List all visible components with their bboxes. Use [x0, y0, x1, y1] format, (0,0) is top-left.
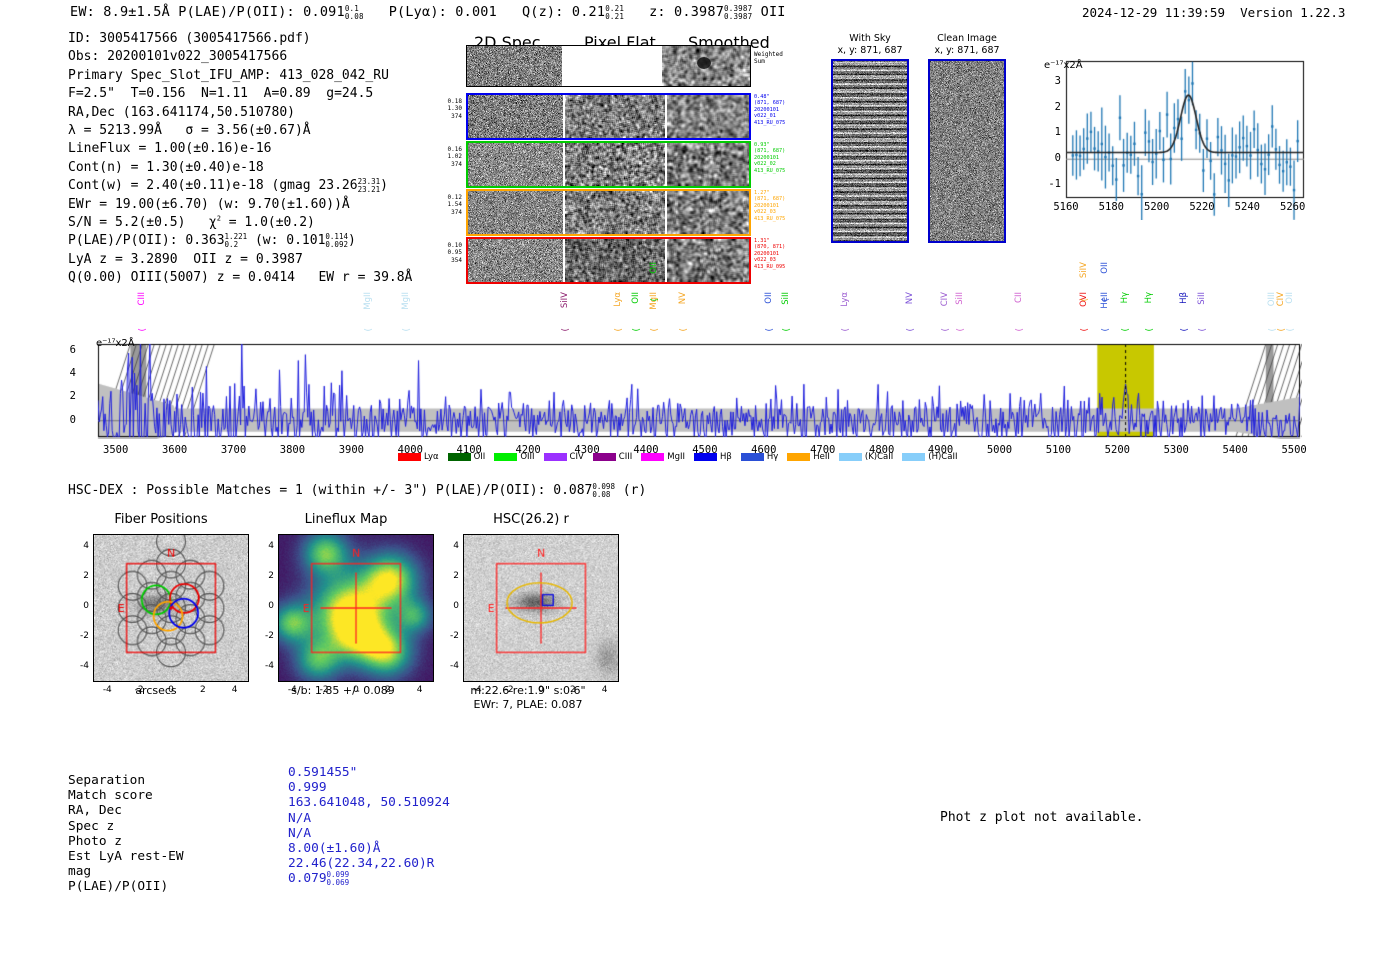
zoom-ytick: 2: [1036, 101, 1061, 113]
hsc-dex-text: HSC-DEX : Possible Matches = 1 (within +…: [68, 483, 592, 498]
clean-image-cutout: Clean Image x, y: 871, 687: [915, 33, 1019, 243]
spec-row-meta: 0.48"(871, 687)20200101v022_01413_RU_075: [754, 94, 785, 126]
gmag-errors: 23.3123.21: [358, 178, 381, 194]
header-z: z: 0.3987: [649, 4, 724, 20]
timestamp: 2024-12-29 11:39:59: [1082, 5, 1225, 20]
main-xtick: 5000: [978, 444, 1022, 456]
emission-line-bracket: (: [364, 328, 374, 332]
zoom-line-plot: e⁻¹⁷x2Å 516051805200522052405260 3210-1: [1036, 57, 1308, 220]
main-xtick: 5400: [1213, 444, 1257, 456]
with-sky-cutout: With Sky x, y: 871, 687: [818, 33, 922, 243]
lineflux-map-title: Lineflux Map: [263, 512, 429, 527]
emission-line-bracket: (: [841, 328, 851, 332]
header-plae-errors: 0.10.08: [345, 5, 364, 21]
legend-item: (H)CaII: [902, 452, 957, 462]
cutout-xtick: -2: [310, 685, 338, 695]
spec-row-left-stats: 0.121.54374: [438, 194, 462, 216]
emission-line-bracket: (: [650, 298, 660, 302]
fiber-positions-panel: Fiber Positions arcsecs: [60, 512, 244, 527]
legend-label: CIV: [570, 452, 584, 462]
emission-line-label: OII: [1286, 292, 1295, 304]
info-lineflux: LineFlux = 1.00(±0.16)e-16: [68, 140, 412, 158]
detection-info-block: ID: 3005417566 (3005417566.pdf) Obs: 202…: [68, 30, 412, 288]
emission-line-bracket: (: [1080, 298, 1090, 302]
info-primary-spec: Primary Spec_Slot_IFU_AMP: 413_028_042_R…: [68, 67, 412, 85]
hsc-r-panel: HSC(26.2) r m:22.6 re:1.9" s:0.6" EWr: 7…: [430, 512, 614, 527]
emission-line-bracket: (: [1101, 328, 1111, 332]
cutout-xtick: 2: [374, 685, 402, 695]
spec-row-left-stats: 0.100.95354: [438, 242, 462, 264]
zoom-xtick: 5160: [1049, 201, 1083, 213]
cutout-xtick: 0: [157, 685, 185, 695]
cutout-xtick: -4: [278, 685, 306, 695]
info-plae-w-errors: 0.1140.092: [325, 233, 348, 249]
match-row-key: mag: [68, 864, 91, 879]
zoom-ytick: 3: [1036, 75, 1061, 87]
main-xtick: 3800: [270, 444, 314, 456]
cutout-xtick: 4: [591, 685, 619, 695]
legend-swatch: [544, 453, 567, 461]
emission-line-label: MgII: [364, 292, 373, 310]
legend-item: CIII: [593, 452, 632, 462]
emission-line-bracket: (: [1080, 328, 1090, 332]
clean-image-title: Clean Image: [915, 33, 1019, 45]
emission-line-bracket: (: [906, 328, 916, 332]
emission-line-label: SiII: [1198, 292, 1207, 305]
info-plae-errors: 1.2210.2: [225, 233, 248, 249]
match-row-key: P(LAE)/P(OII): [68, 879, 168, 894]
cutout-xtick: 2: [189, 685, 217, 695]
legend-item: HeII: [787, 452, 830, 462]
match-row-key: RA, Dec: [68, 803, 122, 818]
info-ewr: EWr = 19.00(±6.70) (w: 9.70(±1.60))Å: [68, 196, 412, 214]
cutout-ytick: -4: [67, 661, 89, 671]
zoom-ytick: 1: [1036, 126, 1061, 138]
spec-row-left-stats: 0.181.30374: [438, 98, 462, 120]
emission-line-label: OII: [765, 292, 774, 304]
emission-line-label: CII: [1015, 292, 1024, 303]
emission-line-bracket: (: [956, 328, 966, 332]
cutout-ytick: -4: [437, 661, 459, 671]
twod-spec-panel-group: 2D Spec Pixel Flat Smoothed Weighted Sum…: [460, 33, 805, 258]
emission-line-bracket: (: [1145, 328, 1155, 332]
emission-line-label: SiIV: [561, 292, 570, 308]
header-z-species: OII: [761, 4, 786, 20]
legend-label: OII: [474, 452, 486, 462]
match-row-value: 0.999: [288, 780, 327, 795]
spec-row-meta: 1.31"(870, 871)20200101v022_03413_RU_095: [754, 238, 785, 270]
cutout-xtick: 0: [342, 685, 370, 695]
emission-line-label: Lyα: [841, 292, 850, 307]
with-sky-title: With Sky: [818, 33, 922, 45]
cutout-ytick: 4: [252, 541, 274, 551]
legend-swatch: [448, 453, 471, 461]
main-xtick: 3600: [153, 444, 197, 456]
legend-label: CIII: [619, 452, 632, 462]
main-xtick: 5100: [1036, 444, 1080, 456]
emission-line-label: OII: [1101, 262, 1110, 274]
emission-line-legend: LyαOIIOIIICIVCIIIMgIIHβHγHeII(K)CaII(H)C…: [398, 452, 957, 462]
main-xtick: 5300: [1154, 444, 1198, 456]
with-sky-coords: x, y: 871, 687: [818, 45, 922, 57]
header-plya: P(Lyα): 0.001: [389, 4, 497, 20]
legend-swatch: [741, 453, 764, 461]
match-row-value: 8.00(±1.60)Å: [288, 841, 380, 856]
emission-line-label: CIII: [138, 292, 147, 305]
zoom-ytick: -1: [1036, 178, 1061, 190]
cutout-ytick: 2: [252, 571, 274, 581]
info-params: F=2.5" T=0.156 N=1.11 A=0.89 g=24.5: [68, 85, 412, 103]
legend-swatch: [593, 453, 616, 461]
info-wavelength: λ = 5213.99Å σ = 3.56(±0.67)Å: [68, 122, 412, 140]
match-row-value: 0.0790.0990.069: [288, 871, 349, 887]
cutout-xtick: -2: [125, 685, 153, 695]
spec-row-meta: 0.93"(871, 687)20200101v022_02413_RU_075: [754, 142, 785, 174]
emission-line-label: SiII: [956, 292, 965, 305]
legend-swatch: [641, 453, 664, 461]
main-xtick: 5500: [1272, 444, 1316, 456]
clean-image-coords: x, y: 871, 687: [915, 45, 1019, 57]
legend-swatch: [902, 453, 925, 461]
emission-line-bracket: (: [561, 328, 571, 332]
main-xtick: 3900: [329, 444, 373, 456]
emission-line-bracket: (: [1286, 328, 1296, 332]
match-row-key: Est LyA rest-EW: [68, 849, 184, 864]
emission-line-label: SiIV: [1080, 262, 1089, 278]
info-cont-n: Cont(n) = 1.30(±0.40)e-18: [68, 159, 412, 177]
legend-item: Lyα: [398, 452, 439, 462]
cutout-ytick: -2: [437, 631, 459, 641]
emission-line-bracket: (: [1101, 298, 1111, 302]
cutout-ytick: 0: [67, 601, 89, 611]
emission-line-bracket: (: [1180, 328, 1190, 332]
main-xtick: 5200: [1095, 444, 1139, 456]
spec-row: [466, 93, 751, 140]
emission-line-label: OII: [650, 262, 659, 274]
legend-item: Hβ: [694, 452, 732, 462]
weighted-sum-strip: [466, 45, 751, 87]
info-redshifts: LyA z = 3.2890 OII z = 0.3987: [68, 251, 412, 269]
legend-item: OIII: [494, 452, 534, 462]
zoom-plot-units: e⁻¹⁷x2Å: [1044, 60, 1083, 71]
emission-line-label: Hβ: [1180, 292, 1189, 304]
emission-line-bracket: (: [614, 328, 624, 332]
emission-line-bracket: (: [765, 328, 775, 332]
zoom-xtick: 5200: [1140, 201, 1174, 213]
emission-line-label: NV: [679, 292, 688, 304]
main-ytick: 2: [58, 390, 76, 402]
legend-swatch: [694, 453, 717, 461]
spec-row-meta: 1.27"(871, 687)20200101v022_03413_RU_075: [754, 190, 785, 222]
legend-item: MgII: [641, 452, 685, 462]
zoom-xtick: 5240: [1230, 201, 1264, 213]
match-row-key: Separation: [68, 773, 145, 788]
emission-line-bracket: (: [679, 328, 689, 332]
legend-label: Hβ: [720, 452, 732, 462]
legend-swatch: [494, 453, 517, 461]
legend-label: OIII: [520, 452, 534, 462]
match-row-value: 163.641048, 50.510924: [288, 795, 450, 810]
cutout-xtick: -4: [463, 685, 491, 695]
legend-swatch: [787, 453, 810, 461]
cutout-ytick: 0: [437, 601, 459, 611]
zoom-ytick: 0: [1036, 152, 1061, 164]
match-row-value: N/A: [288, 811, 311, 826]
cutout-ytick: -2: [67, 631, 89, 641]
emission-line-label: Hγ: [1121, 292, 1130, 303]
cutout-xtick: -2: [495, 685, 523, 695]
emission-line-bracket: (: [138, 328, 148, 332]
info-radec: RA,Dec (163.641174,50.510780): [68, 104, 412, 122]
emission-line-bracket: (: [632, 328, 642, 332]
legend-swatch: [398, 453, 421, 461]
lineflux-map-panel: Lineflux Map s/b: 1.85 +/- 0.089: [245, 512, 429, 527]
match-row-value: N/A: [288, 826, 311, 841]
main-xtick: 3700: [212, 444, 256, 456]
hsc-dex-errors: 0.0980.08: [592, 483, 615, 499]
match-row-value: 22.46(22.34,22.60)R: [288, 856, 434, 871]
info-cont-w: Cont(w) = 2.40(±0.11)e-18 (gmag 23.2623.…: [68, 177, 412, 195]
legend-label: (K)CaII: [865, 452, 893, 462]
cutout-ytick: 2: [67, 571, 89, 581]
emission-line-label: OII: [632, 292, 641, 304]
emission-line-bracket: (: [402, 328, 412, 332]
emission-line-label: Lyα: [614, 292, 623, 307]
main-ytick: 0: [58, 414, 76, 426]
header-qz-errors: 0.210.21: [605, 5, 624, 21]
info-sn-chi2: S/N = 5.2(±0.5) χ2 = 1.0(±0.2): [68, 214, 412, 232]
zoom-xtick: 5260: [1276, 201, 1310, 213]
emission-line-label: MgII: [402, 292, 411, 310]
match-row-key: Match score: [68, 788, 153, 803]
legend-label: HeII: [813, 452, 830, 462]
match-row-value: 0.591455": [288, 765, 357, 780]
info-plae: P(LAE)/P(OII): 0.3631.2210.2 (w: 0.1010.…: [68, 232, 412, 250]
match-row-key: Photo z: [68, 834, 122, 849]
cutout-ytick: -2: [252, 631, 274, 641]
spec-row-left-stats: 0.161.02374: [438, 146, 462, 168]
main-spectrum-region: CIII(MgII(MgII(SiIV(Lyα(OII(MgII(OII(NV(…: [80, 270, 1302, 445]
header-z-errors: 0.39870.3987: [724, 5, 752, 21]
cutout-xtick: 2: [559, 685, 587, 695]
cutout-ytick: -4: [252, 661, 274, 671]
legend-item: CIV: [544, 452, 584, 462]
fiber-positions-title: Fiber Positions: [78, 512, 244, 527]
emission-line-bracket: (: [1198, 328, 1208, 332]
hsc-r-caption-2: EWr: 7, PLAE: 0.087: [428, 698, 628, 711]
spec-row: [466, 189, 751, 236]
emission-line-label: NV: [906, 292, 915, 304]
legend-item: OII: [448, 452, 486, 462]
hsc-dex-filter: (r): [623, 483, 646, 498]
header-right: 2024-12-29 11:39:59 Version 1.22.3: [1082, 5, 1345, 20]
zoom-xtick: 5180: [1094, 201, 1128, 213]
hsc-dex-summary: HSC-DEX : Possible Matches = 1 (within +…: [68, 483, 646, 499]
cutout-xtick: -4: [93, 685, 121, 695]
header-ew-plae: EW: 8.9±1.5Å P(LAE)/P(OII): 0.091: [70, 4, 345, 20]
emission-line-label: CIV: [941, 292, 950, 306]
version-label: Version 1.22.3: [1240, 5, 1345, 20]
emission-line-bracket: (: [1121, 328, 1131, 332]
emission-line-bracket: (: [1015, 328, 1025, 332]
weighted-sum-label: Weighted Sum: [754, 51, 783, 66]
main-ytick: 4: [58, 367, 76, 379]
emission-line-label: Hγ: [1145, 292, 1154, 303]
photz-note: Phot z plot not available.: [940, 810, 1144, 825]
emission-line-label: SiII: [782, 292, 791, 305]
pixelflat-blank: [562, 46, 662, 86]
emission-line-bracket: (: [941, 328, 951, 332]
legend-label: (H)CaII: [928, 452, 957, 462]
emission-line-bracket: (: [782, 328, 792, 332]
main-ytick: 6: [58, 344, 76, 356]
hsc-r-title: HSC(26.2) r: [448, 512, 614, 527]
cutout-ytick: 4: [67, 541, 89, 551]
cutout-xtick: 4: [221, 685, 249, 695]
match-plae-errors: 0.0990.069: [327, 871, 350, 887]
legend-item: (K)CaII: [839, 452, 893, 462]
match-row-key: Spec z: [68, 819, 114, 834]
emission-line-bracket: (: [650, 328, 660, 332]
legend-label: MgII: [667, 452, 685, 462]
legend-swatch: [839, 453, 862, 461]
info-id: ID: 3005417566 (3005417566.pdf): [68, 30, 412, 48]
legend-item: Hγ: [741, 452, 778, 462]
legend-label: Hγ: [767, 452, 778, 462]
main-spectrum-units: e⁻¹⁷x2Å: [96, 338, 135, 349]
cutout-xtick: 0: [527, 685, 555, 695]
legend-label: Lyα: [424, 452, 439, 462]
cutout-ytick: 4: [437, 541, 459, 551]
main-xtick: 3500: [94, 444, 138, 456]
header-summary-line: EW: 8.9±1.5Å P(LAE)/P(OII): 0.0910.10.08…: [70, 4, 786, 21]
cutout-ytick: 0: [252, 601, 274, 611]
header-qz: Q(z): 0.21: [522, 4, 605, 20]
spec-row: [466, 141, 751, 188]
info-obs: Obs: 20200101v022_3005417566: [68, 48, 412, 66]
zoom-xtick: 5220: [1185, 201, 1219, 213]
cutout-xtick: 4: [406, 685, 434, 695]
cutout-ytick: 2: [437, 571, 459, 581]
